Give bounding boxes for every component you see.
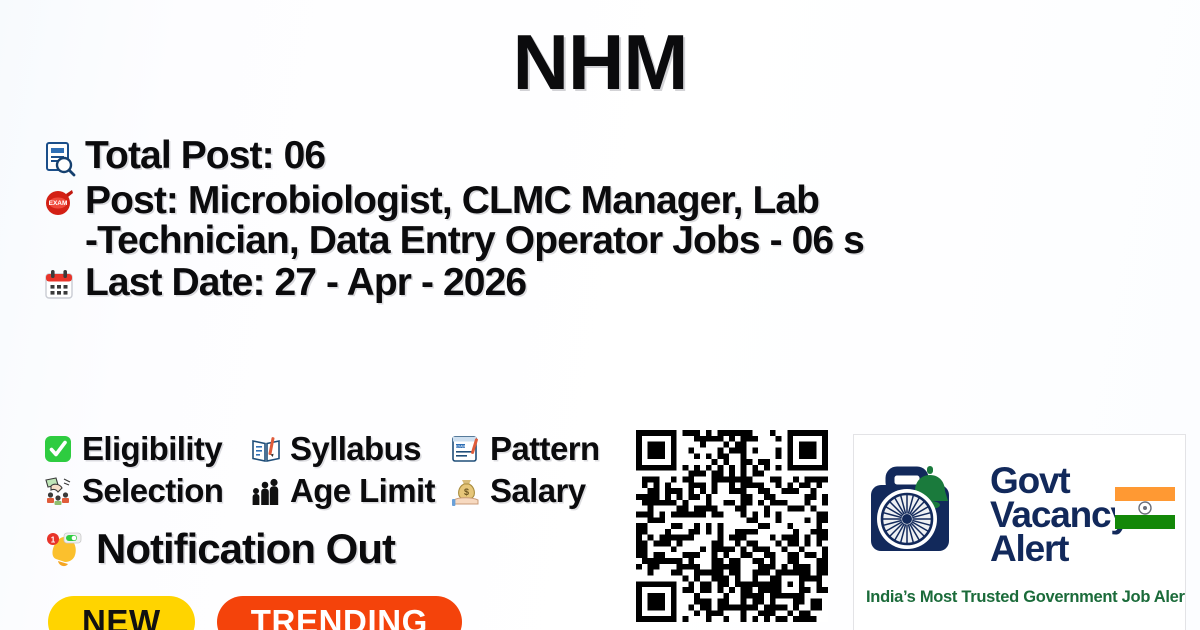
last-date-line: Last Date: 27 - Apr - 2026 xyxy=(42,263,1162,306)
page-title: NHM xyxy=(0,22,1200,103)
hand-picking-icon xyxy=(42,474,74,508)
feature-row-2: Selection Age Limit xyxy=(42,470,642,512)
brand-tagline: India’s Most Trusted Government Job Aler… xyxy=(866,588,1173,607)
briefcase-chakra-bell-icon xyxy=(866,455,984,575)
notification-label: Notification Out xyxy=(96,525,395,573)
qr-code-canvas xyxy=(636,430,828,622)
feature-salary[interactable]: $ Salary xyxy=(450,472,642,510)
feature-label: Syllabus xyxy=(290,430,421,468)
brand-word-1: Govt xyxy=(990,464,1130,498)
brand-logo-card: Govt Vacancy Alert India’s Most Trusted … xyxy=(853,434,1186,630)
bell-notification-icon: 1 xyxy=(42,525,86,573)
feature-label: Pattern xyxy=(490,430,600,468)
svg-text:$: $ xyxy=(464,487,469,497)
feature-list: Eligibility Syllabus xyxy=(42,428,642,512)
badge-row: NEW TRENDING xyxy=(48,596,462,630)
calendar-icon xyxy=(42,266,76,306)
notification-out-block: 1 Notification Out xyxy=(42,525,395,573)
family-icon xyxy=(250,474,282,508)
post-names-line: EXAM Post: Microbiologist, CLMC Manager,… xyxy=(42,181,1162,261)
feature-label: Age Limit xyxy=(290,472,435,510)
feature-pattern[interactable]: EXAM Pattern xyxy=(450,430,642,468)
open-book-icon xyxy=(250,432,282,466)
money-bag-icon: $ xyxy=(450,474,482,508)
document-search-icon xyxy=(42,139,76,179)
feature-label: Salary xyxy=(490,472,585,510)
svg-text:EXAM: EXAM xyxy=(456,444,466,448)
feature-row-1: Eligibility Syllabus xyxy=(42,428,642,470)
brand-word-3: Alert xyxy=(990,532,1130,566)
brand-wordmark: Govt Vacancy Alert xyxy=(990,464,1130,566)
brand-word-2: Vacancy xyxy=(990,498,1130,532)
total-post-text: Total Post: 06 xyxy=(85,136,325,176)
feature-selection[interactable]: Selection xyxy=(42,472,250,510)
last-date-text: Last Date: 27 - Apr - 2026 xyxy=(85,263,526,303)
exam-paper-icon: EXAM xyxy=(450,432,482,466)
trending-badge[interactable]: TRENDING xyxy=(217,596,462,630)
feature-label: Eligibility xyxy=(82,430,222,468)
check-mark-icon xyxy=(42,432,74,466)
feature-age-limit[interactable]: Age Limit xyxy=(250,472,450,510)
total-post-line: Total Post: 06 xyxy=(42,136,1162,179)
exam-stamp-icon: EXAM xyxy=(42,184,76,224)
post-names-text: Post: Microbiologist, CLMC Manager, Lab … xyxy=(85,181,864,261)
title-bar: NHM xyxy=(0,0,1200,103)
india-flag-icon xyxy=(1115,487,1175,529)
job-details-block: Total Post: 06 EXAM Post: Microbiologist… xyxy=(42,136,1162,308)
feature-syllabus[interactable]: Syllabus xyxy=(250,430,450,468)
feature-eligibility[interactable]: Eligibility xyxy=(42,430,250,468)
svg-text:EXAM: EXAM xyxy=(49,200,68,207)
feature-label: Selection xyxy=(82,472,223,510)
svg-text:1: 1 xyxy=(51,536,56,545)
new-badge[interactable]: NEW xyxy=(48,596,195,630)
qr-code[interactable] xyxy=(636,430,828,622)
